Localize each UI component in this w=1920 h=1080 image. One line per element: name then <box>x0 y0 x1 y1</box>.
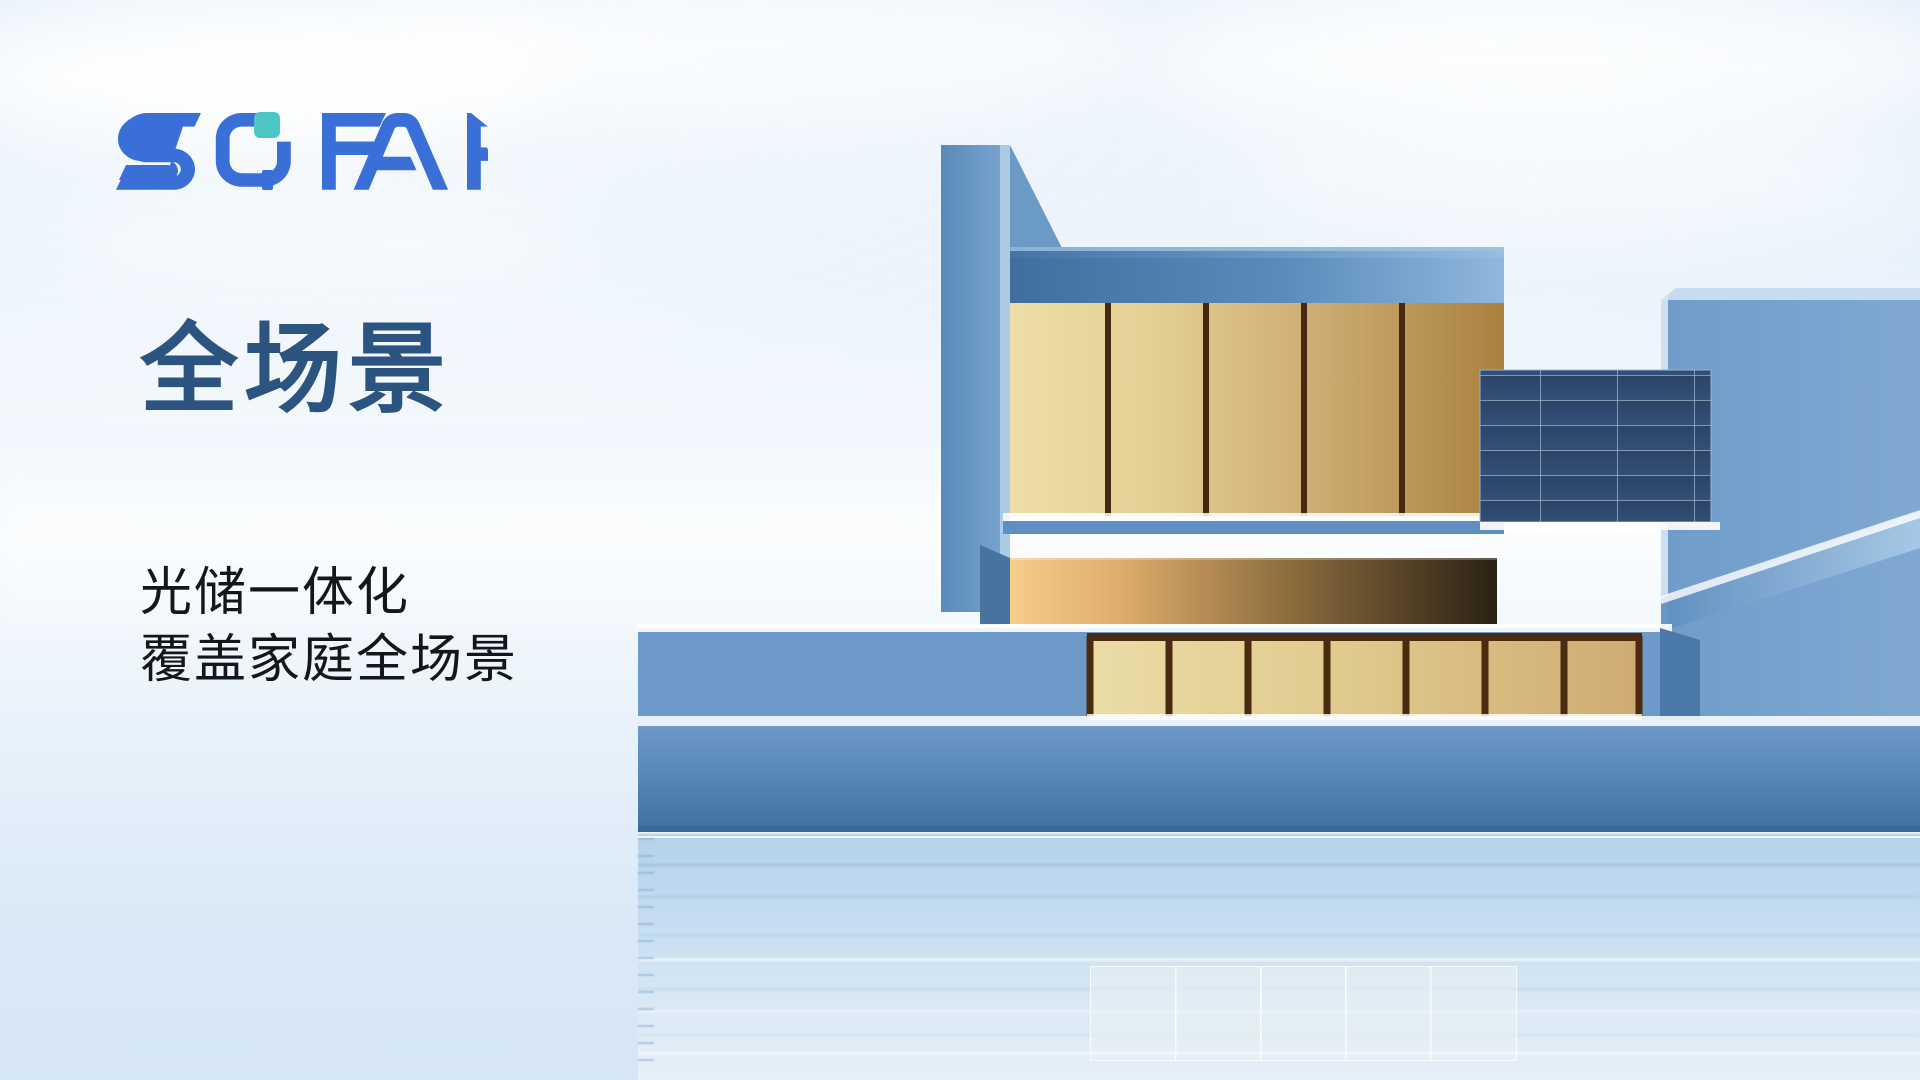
reflected-window <box>1430 966 1517 1061</box>
page-title: 全场景 <box>140 318 452 422</box>
reflected-window <box>1260 966 1347 1061</box>
logo-stem <box>262 170 273 190</box>
upper-block <box>1003 247 1504 534</box>
water-ripples-left <box>638 838 654 1068</box>
water-reflection <box>638 838 1920 1080</box>
soffit-band <box>980 545 1497 632</box>
logo-accent-square <box>254 112 280 138</box>
banner-root: 全场景 光储一体化 覆盖家庭全场景 <box>0 0 1920 1080</box>
subtitle: 光储一体化 覆盖家庭全场景 <box>140 560 518 693</box>
sofar-logo[interactable] <box>116 110 488 190</box>
sofar-logo-mark <box>116 110 488 190</box>
reflected-window <box>1090 966 1177 1061</box>
base-podium <box>638 716 1920 836</box>
reflected-window <box>1345 966 1432 1061</box>
lower-window-strip <box>1087 633 1642 722</box>
subtitle-line-1: 光储一体化 <box>140 560 518 627</box>
solar-panel-array <box>1480 370 1720 530</box>
reflected-window <box>1175 966 1262 1061</box>
subtitle-line-2: 覆盖家庭全场景 <box>140 627 518 694</box>
